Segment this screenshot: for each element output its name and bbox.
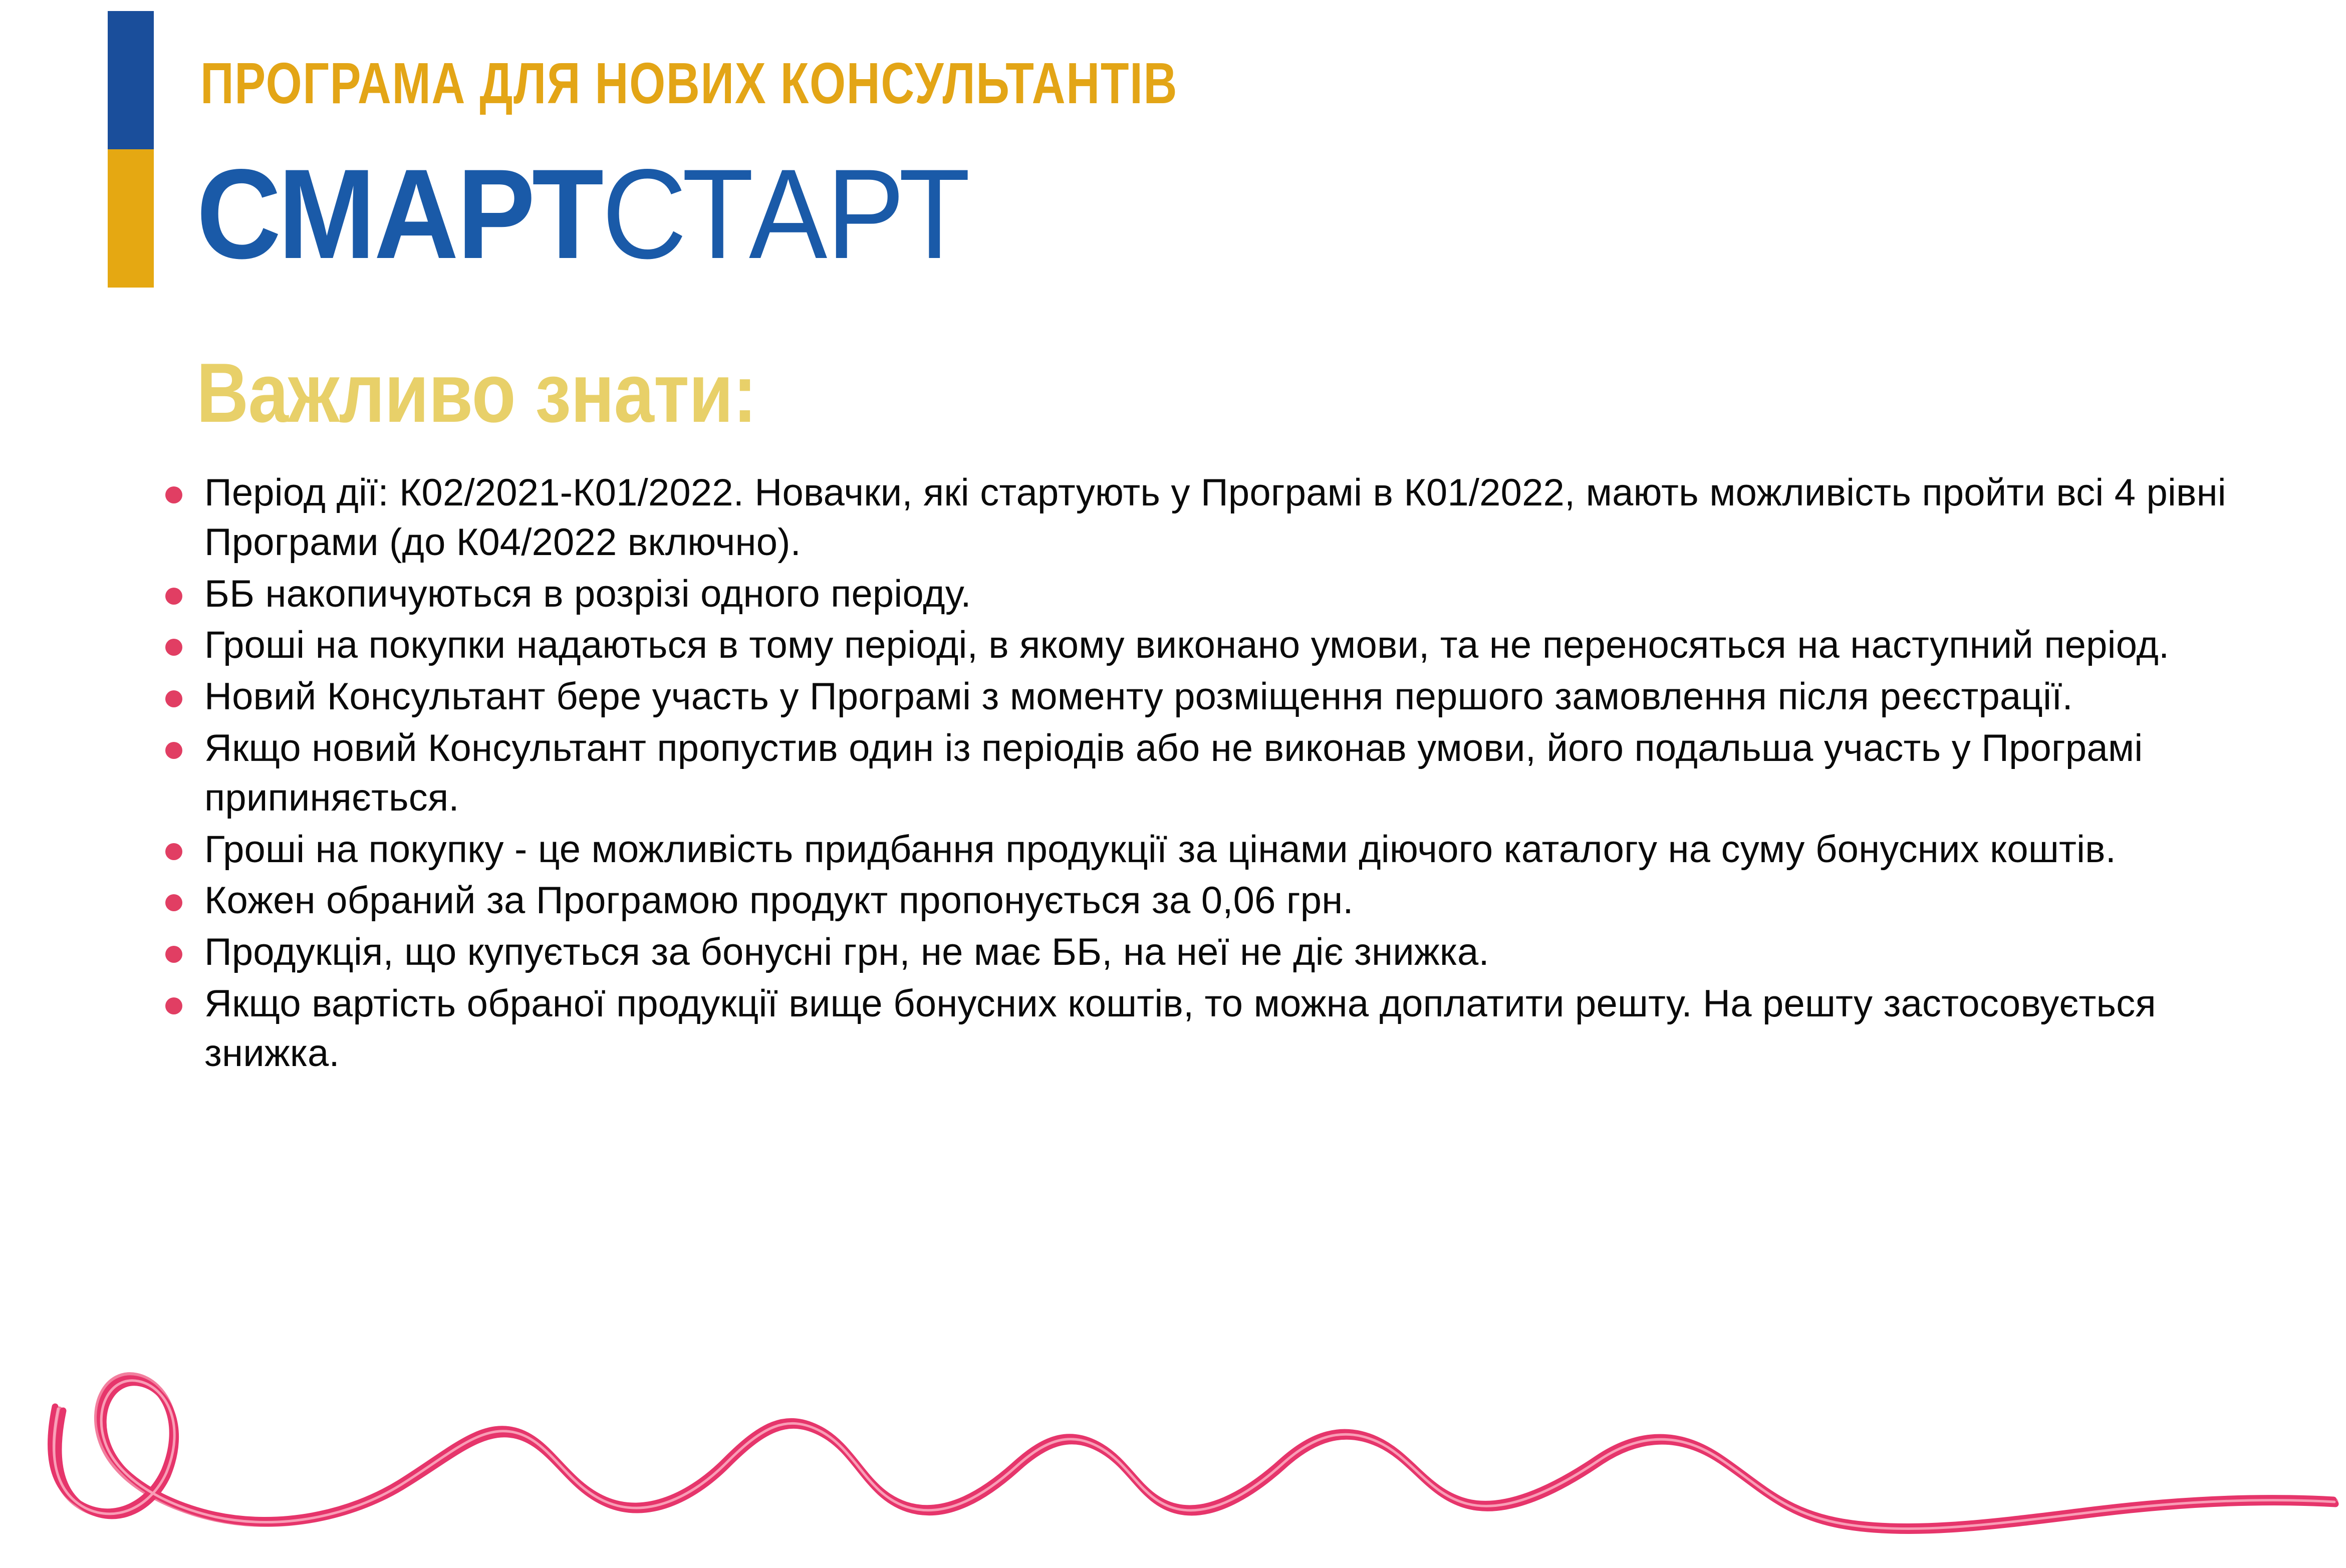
list-item: Якщо вартість обраної продукції вище бон… [165,979,2234,1079]
logo-block: ПРОГРАМА ДЛЯ НОВИХ КОНСУЛЬТАНТІВ СМАРТСТ… [0,0,2346,321]
list-item: Новий Консультант бере участь у Програмі… [165,672,2234,722]
list-item: ББ накопичуються в розрізі одного період… [165,570,2234,619]
list-item-text: Період дії: К02/2021-К01/2022. Новачки, … [204,468,2234,568]
list-item-text: Гроші на покупку - це можливість придбан… [204,825,2234,875]
list-item: Якщо новий Консультант пропустив один із… [165,724,2234,823]
list-item-text: Якщо новий Консультант пропустив один із… [204,724,2234,823]
list-item: Продукція, що купується за бонусні грн, … [165,928,2234,977]
list-item: Кожен обраний за Програмою продукт пропо… [165,876,2234,926]
list-item-text: Якщо вартість обраної продукції вище бон… [204,979,2234,1079]
flag-blue-stripe [108,11,154,149]
list-item: Гроші на покупки надаються в тому період… [165,621,2234,670]
bullet-dot-icon [165,997,182,1014]
bullet-dot-icon [165,588,182,605]
bullet-dot-icon [165,843,182,860]
list-item: Гроші на покупку - це можливість придбан… [165,825,2234,875]
list-item-text: ББ накопичуються в розрізі одного період… [204,570,2234,619]
decorative-squiggle [0,1308,2346,1568]
bullet-dot-icon [165,742,182,759]
bullet-dot-icon [165,946,182,963]
list-item-text: Новий Консультант бере участь у Програмі… [204,672,2234,722]
section-heading-important-to-know: Важливо знати: [196,351,756,435]
list-item-text: Кожен обраний за Програмою продукт пропо… [204,876,2234,926]
list-item: Період дії: К02/2021-К01/2022. Новачки, … [165,468,2234,568]
program-tagline: ПРОГРАМА ДЛЯ НОВИХ КОНСУЛЬТАНТІВ [200,54,1178,112]
wordmark-start: СТАРТ [602,143,969,286]
flag-yellow-stripe [108,149,154,288]
important-notes-list: Період дії: К02/2021-К01/2022. Новачки, … [165,468,2234,1081]
bullet-dot-icon [165,690,182,707]
wordmark-smart: СМАРТ [196,143,602,286]
bullet-dot-icon [165,486,182,503]
list-item-text: Продукція, що купується за бонусні грн, … [204,928,2234,977]
ukraine-flag-bar [108,11,154,288]
bullet-dot-icon [165,639,182,656]
bullet-dot-icon [165,894,182,911]
smartstart-wordmark: СМАРТСТАРТ [196,150,969,278]
list-item-text: Гроші на покупки надаються в тому період… [204,621,2234,670]
